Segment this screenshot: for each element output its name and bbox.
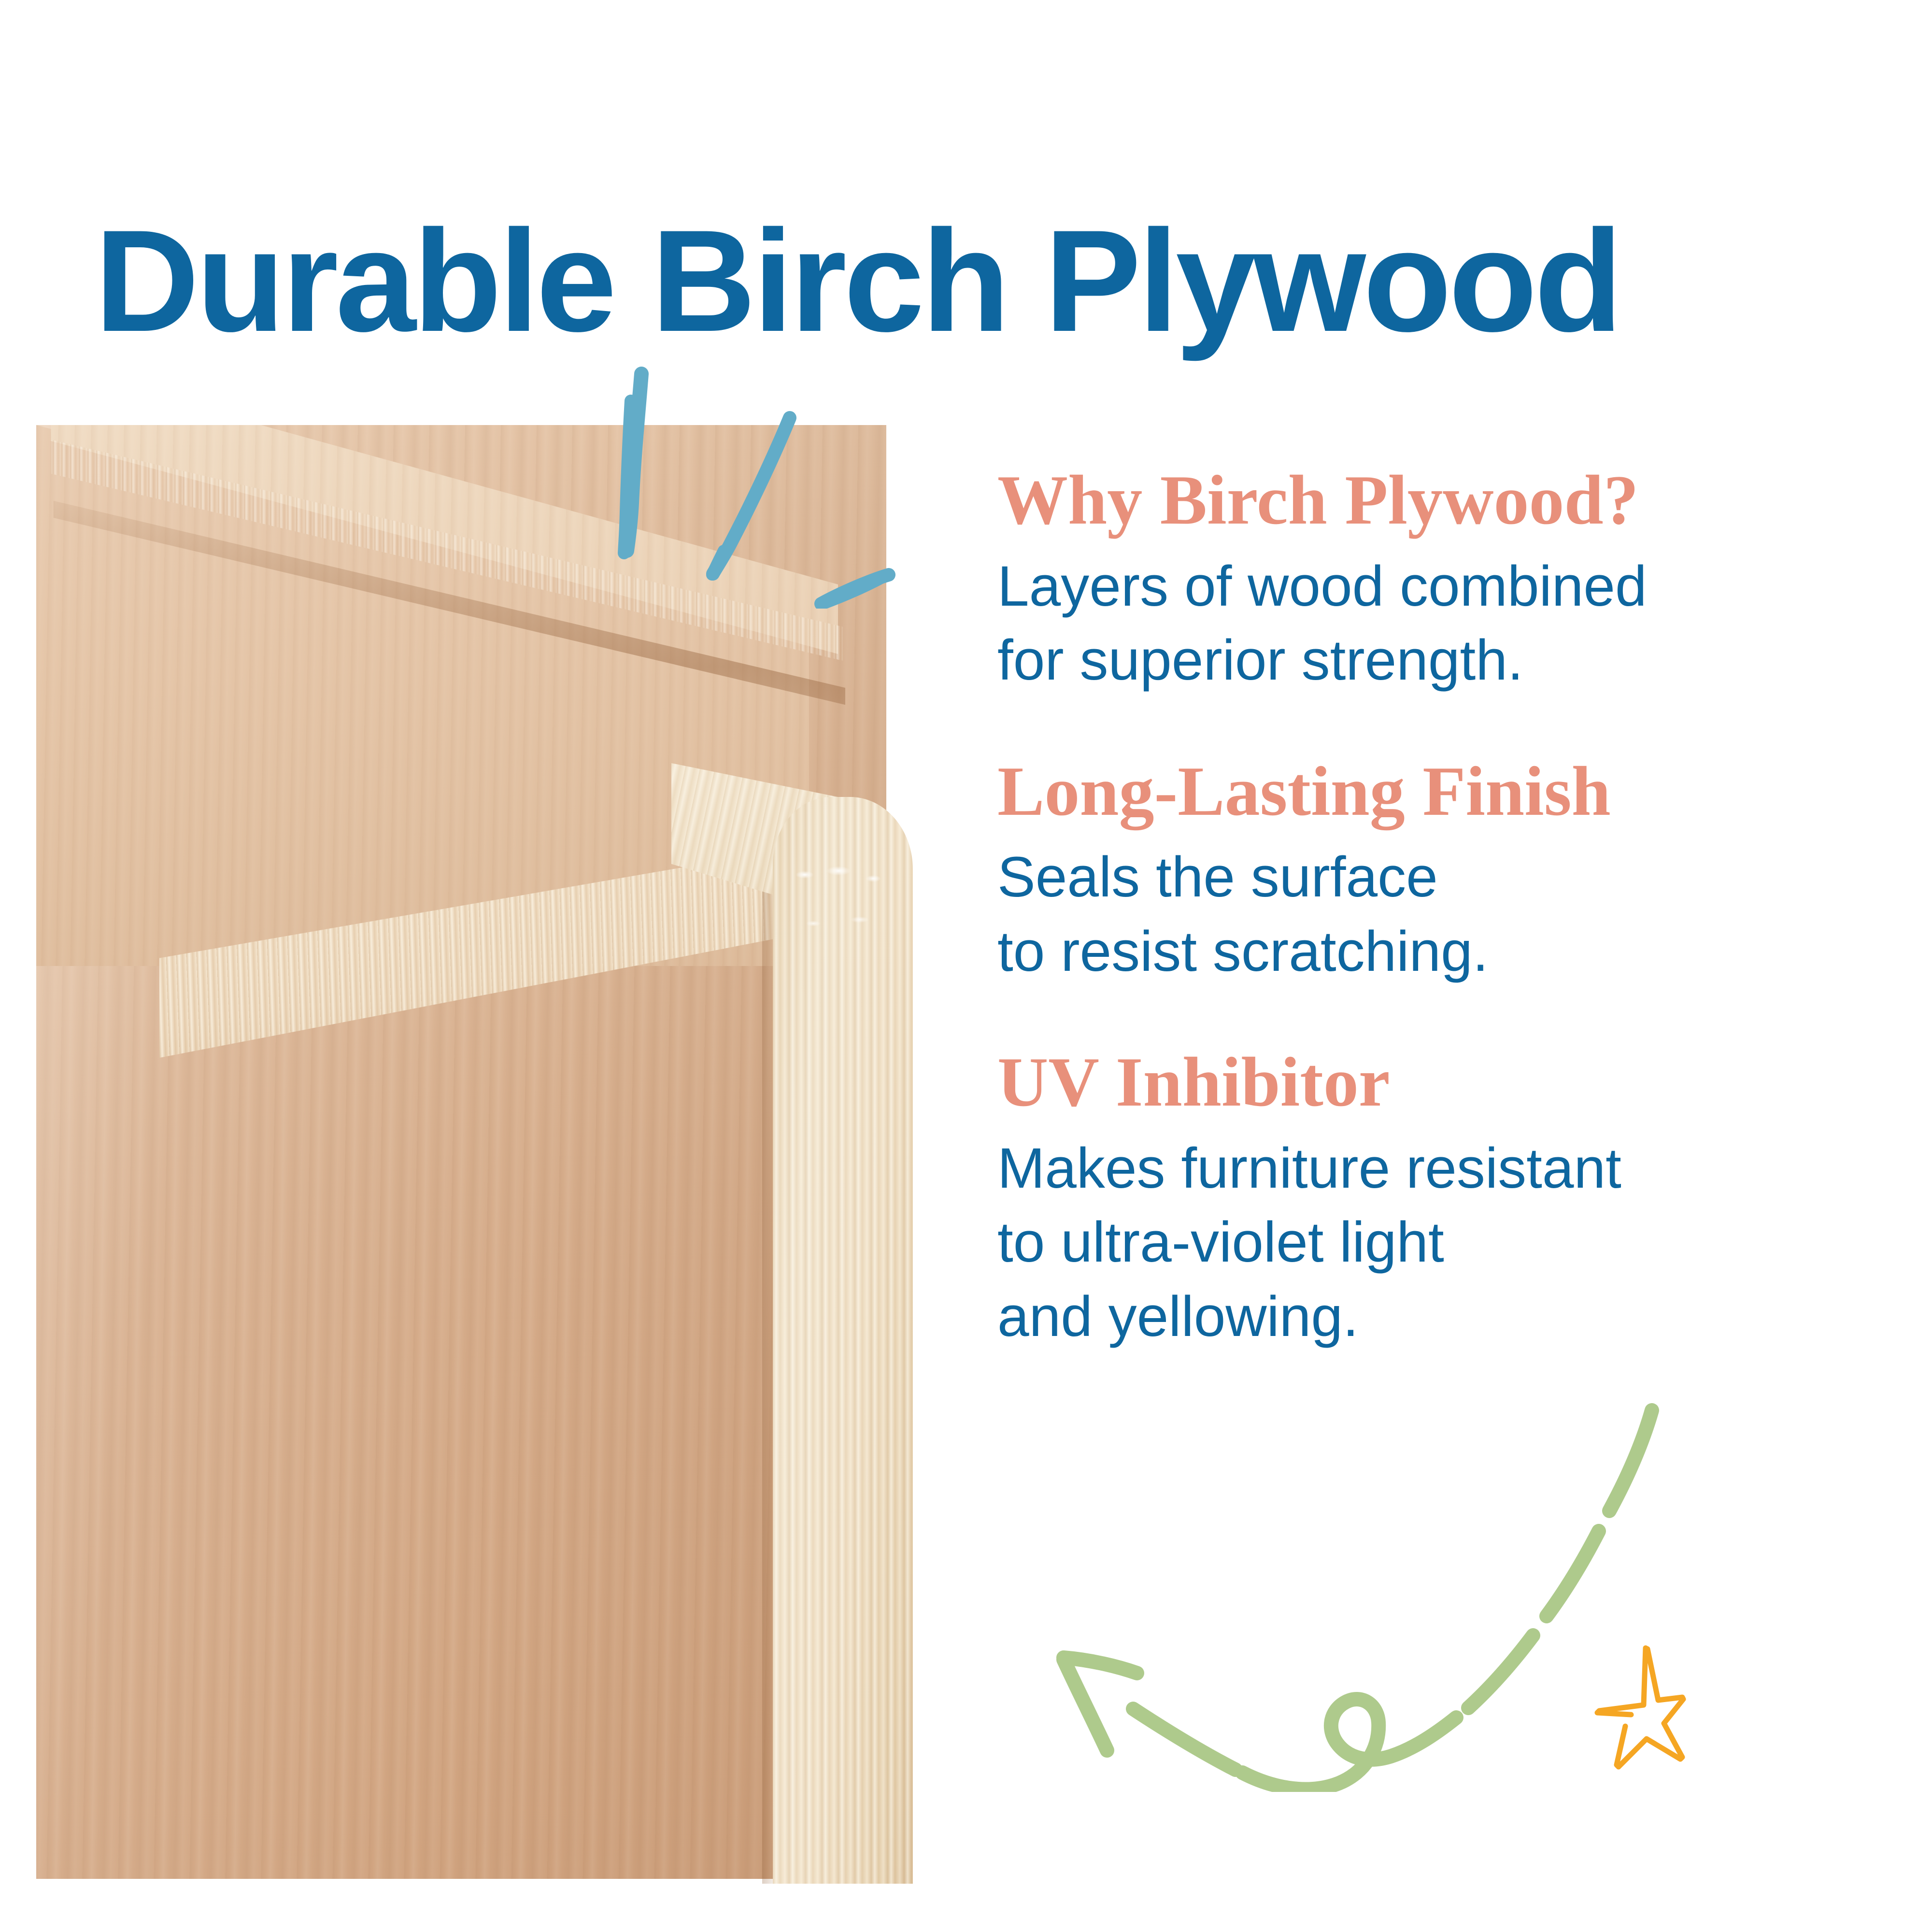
feature-body-line: Seals the surface — [997, 840, 1847, 914]
feature-body-line: to resist scratching. — [997, 915, 1847, 989]
feature-block-long-lasting-finish: Long-Lasting Finish Seals the surface to… — [997, 755, 1847, 989]
birch-plywood-cabinet-corner-photo — [0, 425, 918, 1884]
feature-body-line: to ultra-violet light — [997, 1206, 1847, 1279]
feature-body: Layers of wood combined for superior str… — [997, 550, 1847, 698]
cabinet-side-panel-ply — [773, 797, 913, 1884]
feature-body: Seals the surface to resist scratching. — [997, 840, 1847, 989]
feature-block-uv-inhibitor: UV Inhibitor Makes furniture resistant t… — [997, 1046, 1847, 1354]
infographic-canvas: Durable Birch Plywood Why Birch Plywood? — [0, 0, 1932, 1932]
feature-heading: Why Birch Plywood? — [997, 464, 1847, 537]
star-outline-icon — [1577, 1623, 1732, 1777]
side-panel-gloss-highlight — [796, 862, 888, 896]
side-panel-gloss-highlight-2 — [802, 913, 886, 935]
feature-body-line: for superior strength. — [997, 624, 1847, 697]
feature-block-why-birch-plywood: Why Birch Plywood? Layers of wood combin… — [997, 464, 1847, 698]
feature-body-line: Layers of wood combined — [997, 550, 1847, 624]
feature-heading: UV Inhibitor — [997, 1046, 1847, 1119]
feature-body: Makes furniture resistant to ultra-viole… — [997, 1132, 1847, 1354]
feature-body-line: and yellowing. — [997, 1280, 1847, 1354]
feature-list: Why Birch Plywood? Layers of wood combin… — [997, 464, 1847, 1354]
page-title: Durable Birch Plywood — [95, 208, 1882, 353]
sparkle-lines-icon — [570, 348, 908, 609]
feature-body-line: Makes furniture resistant — [997, 1132, 1847, 1206]
feature-heading: Long-Lasting Finish — [997, 755, 1847, 828]
